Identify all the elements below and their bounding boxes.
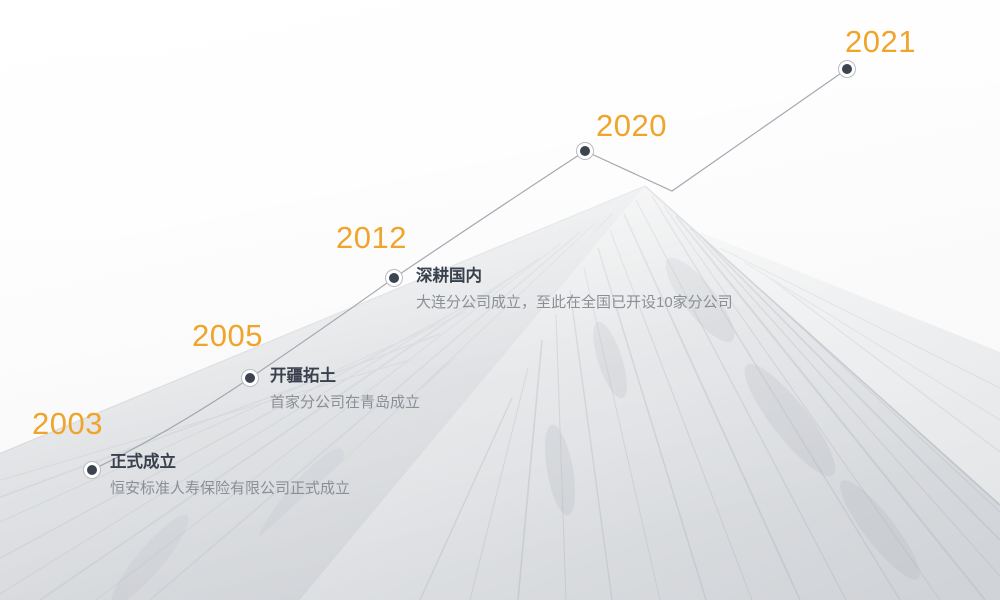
milestone-desc-2005: 首家分公司在青岛成立: [270, 395, 420, 410]
milestone-dot-2012[interactable]: [386, 270, 402, 286]
milestone-dot-2020[interactable]: [577, 143, 593, 159]
milestone-desc-2012: 大连分公司成立，至此在全国已开设10家分公司: [416, 295, 733, 310]
milestone-dot-2005[interactable]: [242, 370, 258, 386]
milestone-title-2003: 正式成立: [110, 454, 176, 471]
milestone-desc-2003: 恒安标准人寿保险有限公司正式成立: [110, 481, 350, 496]
timeline-infographic: 2003 正式成立 恒安标准人寿保险有限公司正式成立 2005 开疆拓土 首家分…: [0, 0, 1000, 600]
milestone-year-2021: 2021: [845, 26, 916, 57]
milestone-year-2005: 2005: [192, 320, 263, 351]
milestone-year-2003: 2003: [32, 408, 103, 439]
milestone-year-2020: 2020: [596, 110, 667, 141]
milestone-title-2012: 深耕国内: [416, 268, 482, 285]
milestone-dot-2021[interactable]: [839, 61, 855, 77]
milestone-dot-2003[interactable]: [84, 462, 100, 478]
milestone-title-2005: 开疆拓土: [270, 368, 336, 385]
milestone-year-2012: 2012: [336, 222, 407, 253]
